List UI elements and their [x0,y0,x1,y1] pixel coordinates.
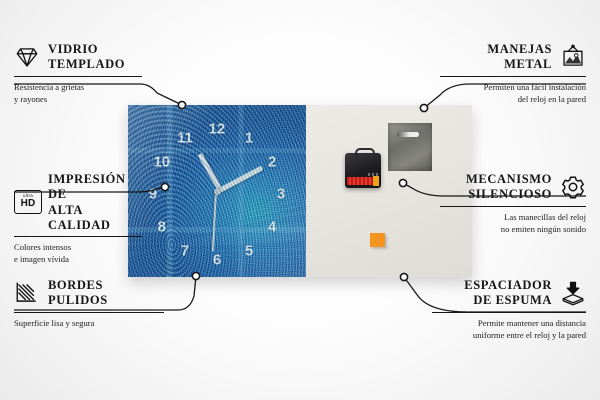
feature-desc-line1: Permiten una fácil instalación [484,82,586,92]
feature-header: MANEJAS METAL [440,42,586,73]
feature-title: MANEJAS METAL [487,42,552,73]
clock-numeral-12: 12 [209,122,226,137]
feature-rule [14,312,164,313]
product-photo: 12 1 2 3 4 5 6 7 8 9 10 11 [128,105,472,277]
ultra-hd-badge-bottom: HD [21,199,36,209]
feature-rule [440,76,586,77]
feature-description: Colores intensos e imagen vívida [14,241,142,265]
feature-title-line1: IMPRESIÓN DE [48,172,126,201]
ultra-hd-badge: ultra HD [14,190,42,214]
ultra-hd-icon: ultra HD [14,190,40,216]
clock-numeral-9: 9 [149,187,157,202]
feature-manejas-metal: MANEJAS METAL Permiten una fácil instala… [440,42,586,105]
clock-front-panel: 12 1 2 3 4 5 6 7 8 9 10 11 [128,105,306,277]
picture-hanger-icon [560,44,586,70]
gear-icon [560,174,586,200]
feature-mecanismo-silencioso: MECANISMO SILENCIOSO Las manecillas del … [440,172,586,235]
metal-hanger-plate [388,123,432,171]
feature-desc-line2: no emiten ningún sonido [501,224,586,234]
feature-rule [14,236,142,237]
feature-title: MECANISMO SILENCIOSO [466,172,552,203]
mechanism-label-tab [373,176,379,186]
hanger-loop [355,148,375,158]
clock-numeral-7: 7 [181,244,189,259]
feature-impresion-alta-calidad: ultra HD IMPRESIÓN DE ALTA CALIDAD Color… [14,172,142,265]
feature-title-line2: METAL [504,57,552,71]
feature-desc-line2: del reloj en la pared [518,94,586,104]
infographic-canvas: 12 1 2 3 4 5 6 7 8 9 10 11 [0,0,600,400]
feature-title: IMPRESIÓN DE ALTA CALIDAD [48,172,142,233]
glass-glare [128,105,306,277]
feature-header: MECANISMO SILENCIOSO [440,172,586,203]
feature-title: VIDRIO TEMPLADO [48,42,125,73]
clock-numeral-10: 10 [153,154,170,169]
clock-numeral-5: 5 [245,244,253,259]
clock-numeral-2: 2 [268,154,276,169]
feature-description: Permiten una fácil instalación del reloj… [440,81,586,105]
feature-title-line2: PULIDOS [48,293,108,307]
feature-desc-line1: Superficie lisa y segura [14,318,94,328]
hanger-slot [397,132,419,137]
polished-edges-icon [14,280,40,306]
mechanism-label [347,177,379,185]
feature-title-line2: DE ESPUMA [473,293,552,307]
feature-desc-line2: uniforme entre el reloj y la pared [473,330,586,340]
feature-description: Resistencia a grietas y rayones [14,81,142,105]
feature-desc-line1: Colores intensos [14,242,71,252]
feature-description: Superficie lisa y segura [14,317,164,329]
clock-numeral-1: 1 [245,130,253,145]
clock-numeral-4: 4 [268,220,276,235]
feature-title: ESPACIADOR DE ESPUMA [464,278,552,309]
feature-desc-line2: e imagen vívida [14,254,69,264]
clock-minute-hand [217,165,263,193]
feature-desc-line2: y rayones [14,94,47,104]
feature-header: VIDRIO TEMPLADO [14,42,142,73]
feature-description: Las manecillas del reloj no emiten ningú… [440,211,586,235]
foam-spacer-icon [560,280,586,306]
feature-espaciador-espuma: ESPACIADOR DE ESPUMA Permite mantener un… [432,278,586,341]
feature-header: ultra HD IMPRESIÓN DE ALTA CALIDAD [14,172,142,233]
clock-numeral-11: 11 [177,130,193,145]
clock-center-cap [214,188,221,195]
feature-title-line2: TEMPLADO [48,57,125,71]
foam-spacer [370,233,385,247]
feature-title-line1: VIDRIO [48,42,98,56]
feature-header: ESPACIADOR DE ESPUMA [432,278,586,309]
feature-vidrio-templado: VIDRIO TEMPLADO Resistencia a grietas y … [14,42,142,105]
feature-title-line2: SILENCIOSO [468,187,552,201]
feature-title-line2: ALTA CALIDAD [48,203,111,232]
clock-numeral-6: 6 [213,252,221,267]
feature-title: BORDES PULIDOS [48,278,108,309]
clock-second-hand [212,190,217,252]
feature-bordes-pulidos: BORDES PULIDOS Superficie lisa y segura [14,278,164,329]
clock-numeral-8: 8 [158,220,166,235]
feature-desc-line1: Las manecillas del reloj [504,212,586,222]
quartz-clock-mechanism [345,153,381,188]
feature-rule [440,206,586,207]
feature-title-line1: MANEJAS [487,42,552,56]
feature-title-line1: MECANISMO [466,172,552,186]
feature-title-line1: ESPACIADOR [464,278,552,292]
feature-title-line1: BORDES [48,278,103,292]
feature-rule [432,312,586,313]
clock-hour-hand [198,152,222,188]
feature-desc-line1: Resistencia a grietas [14,82,84,92]
feature-rule [14,76,142,77]
feature-header: BORDES PULIDOS [14,278,164,309]
clock-face: 12 1 2 3 4 5 6 7 8 9 10 11 [128,105,306,277]
feature-description: Permite mantener una distancia uniforme … [432,317,586,341]
clock-numeral-3: 3 [277,187,285,202]
feature-desc-line1: Permite mantener una distancia [478,318,586,328]
diamond-icon [14,44,40,70]
